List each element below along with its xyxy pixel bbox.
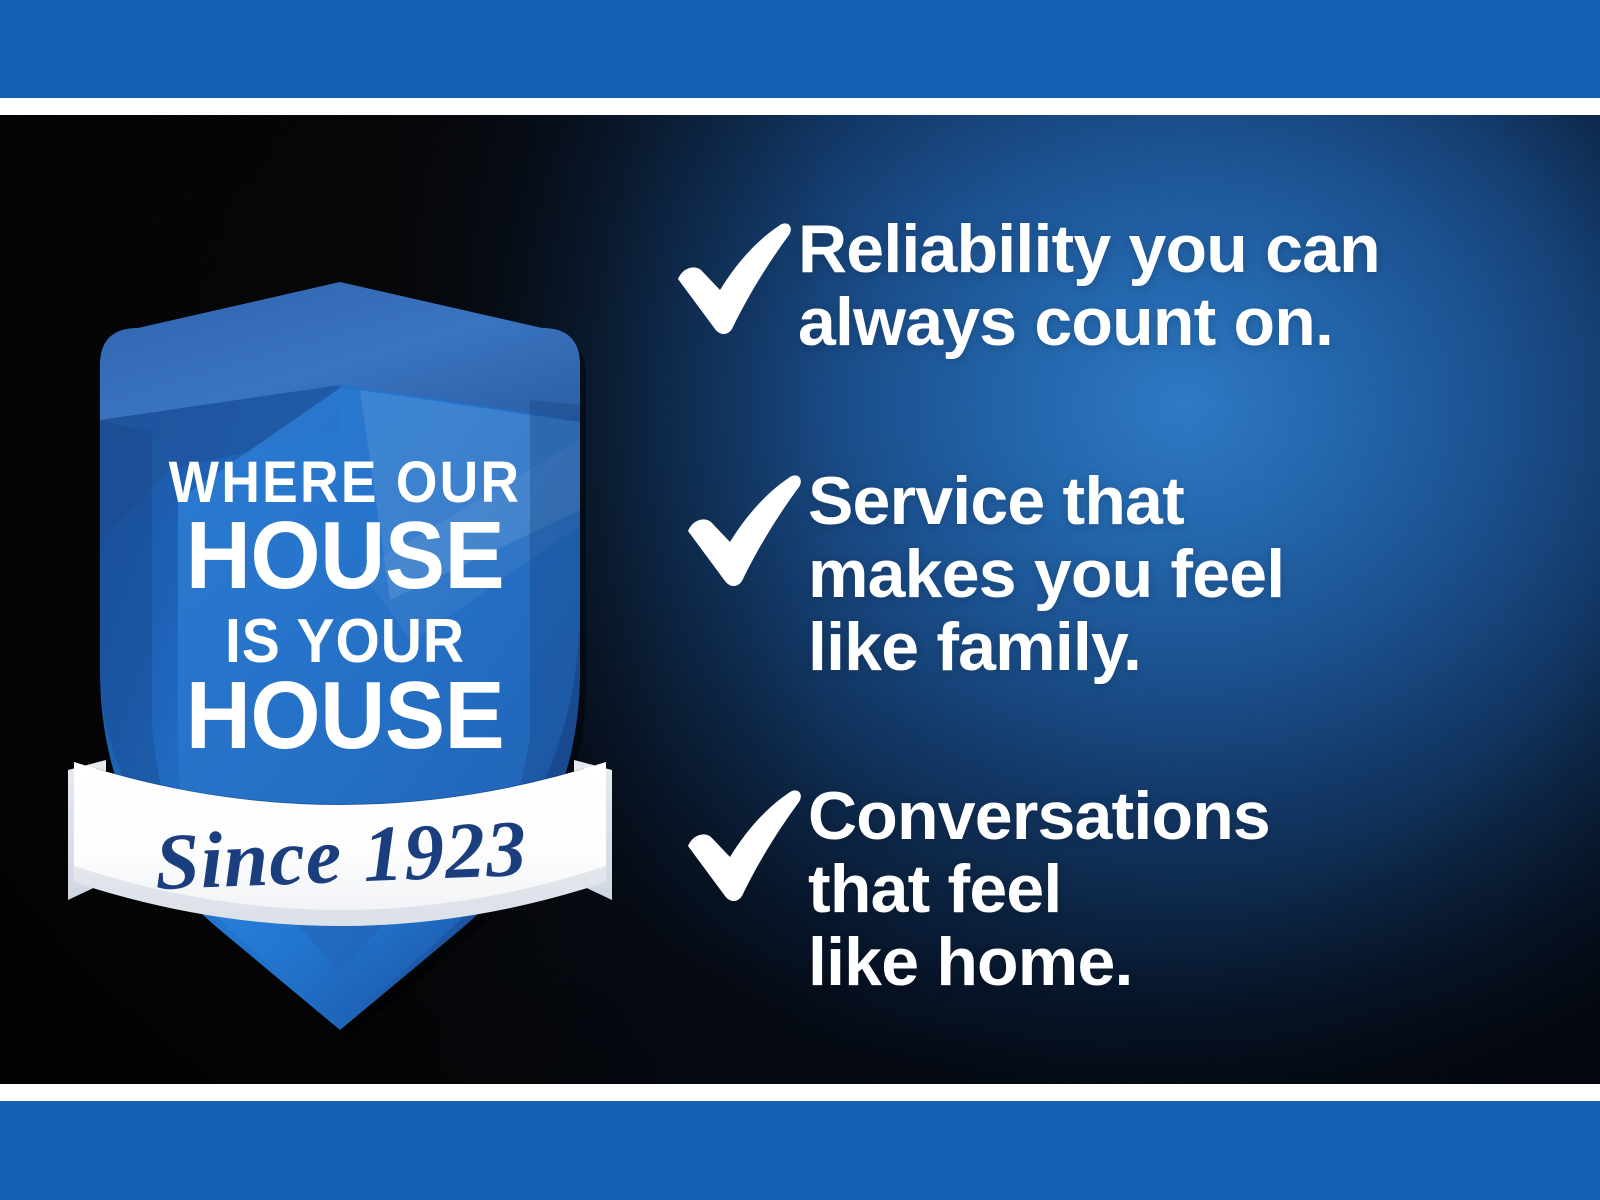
ribbon-text: Since 1923 xyxy=(153,805,528,907)
checklist-item: Service that makes you feel like family. xyxy=(678,465,1284,683)
bottom-brand-bar xyxy=(0,1101,1600,1200)
badge-line-2: HOUSE xyxy=(186,501,505,608)
benefits-checklist: Reliability you can always count on. Ser… xyxy=(660,115,1600,1084)
bottom-white-divider xyxy=(0,1084,1600,1101)
checkmark-icon xyxy=(678,469,808,589)
checklist-item: Reliability you can always count on. xyxy=(668,213,1380,359)
top-white-divider xyxy=(0,98,1600,115)
badge-line-4: HOUSE xyxy=(186,661,505,768)
checklist-item-text: Service that makes you feel like family. xyxy=(808,465,1284,683)
checkmark-icon xyxy=(668,217,798,337)
promotional-poster: WHERE OUR HOUSE IS YOUR HOUSE xyxy=(0,0,1600,1200)
checklist-item-text: Conversations that feel like home. xyxy=(808,780,1270,998)
poster-canvas: WHERE OUR HOUSE IS YOUR HOUSE xyxy=(0,115,1600,1084)
top-brand-bar xyxy=(0,0,1600,98)
shield-badge: WHERE OUR HOUSE IS YOUR HOUSE xyxy=(60,270,620,1060)
checkmark-icon xyxy=(678,784,808,904)
checklist-item-text: Reliability you can always count on. xyxy=(798,213,1380,359)
checklist-item: Conversations that feel like home. xyxy=(678,780,1270,998)
